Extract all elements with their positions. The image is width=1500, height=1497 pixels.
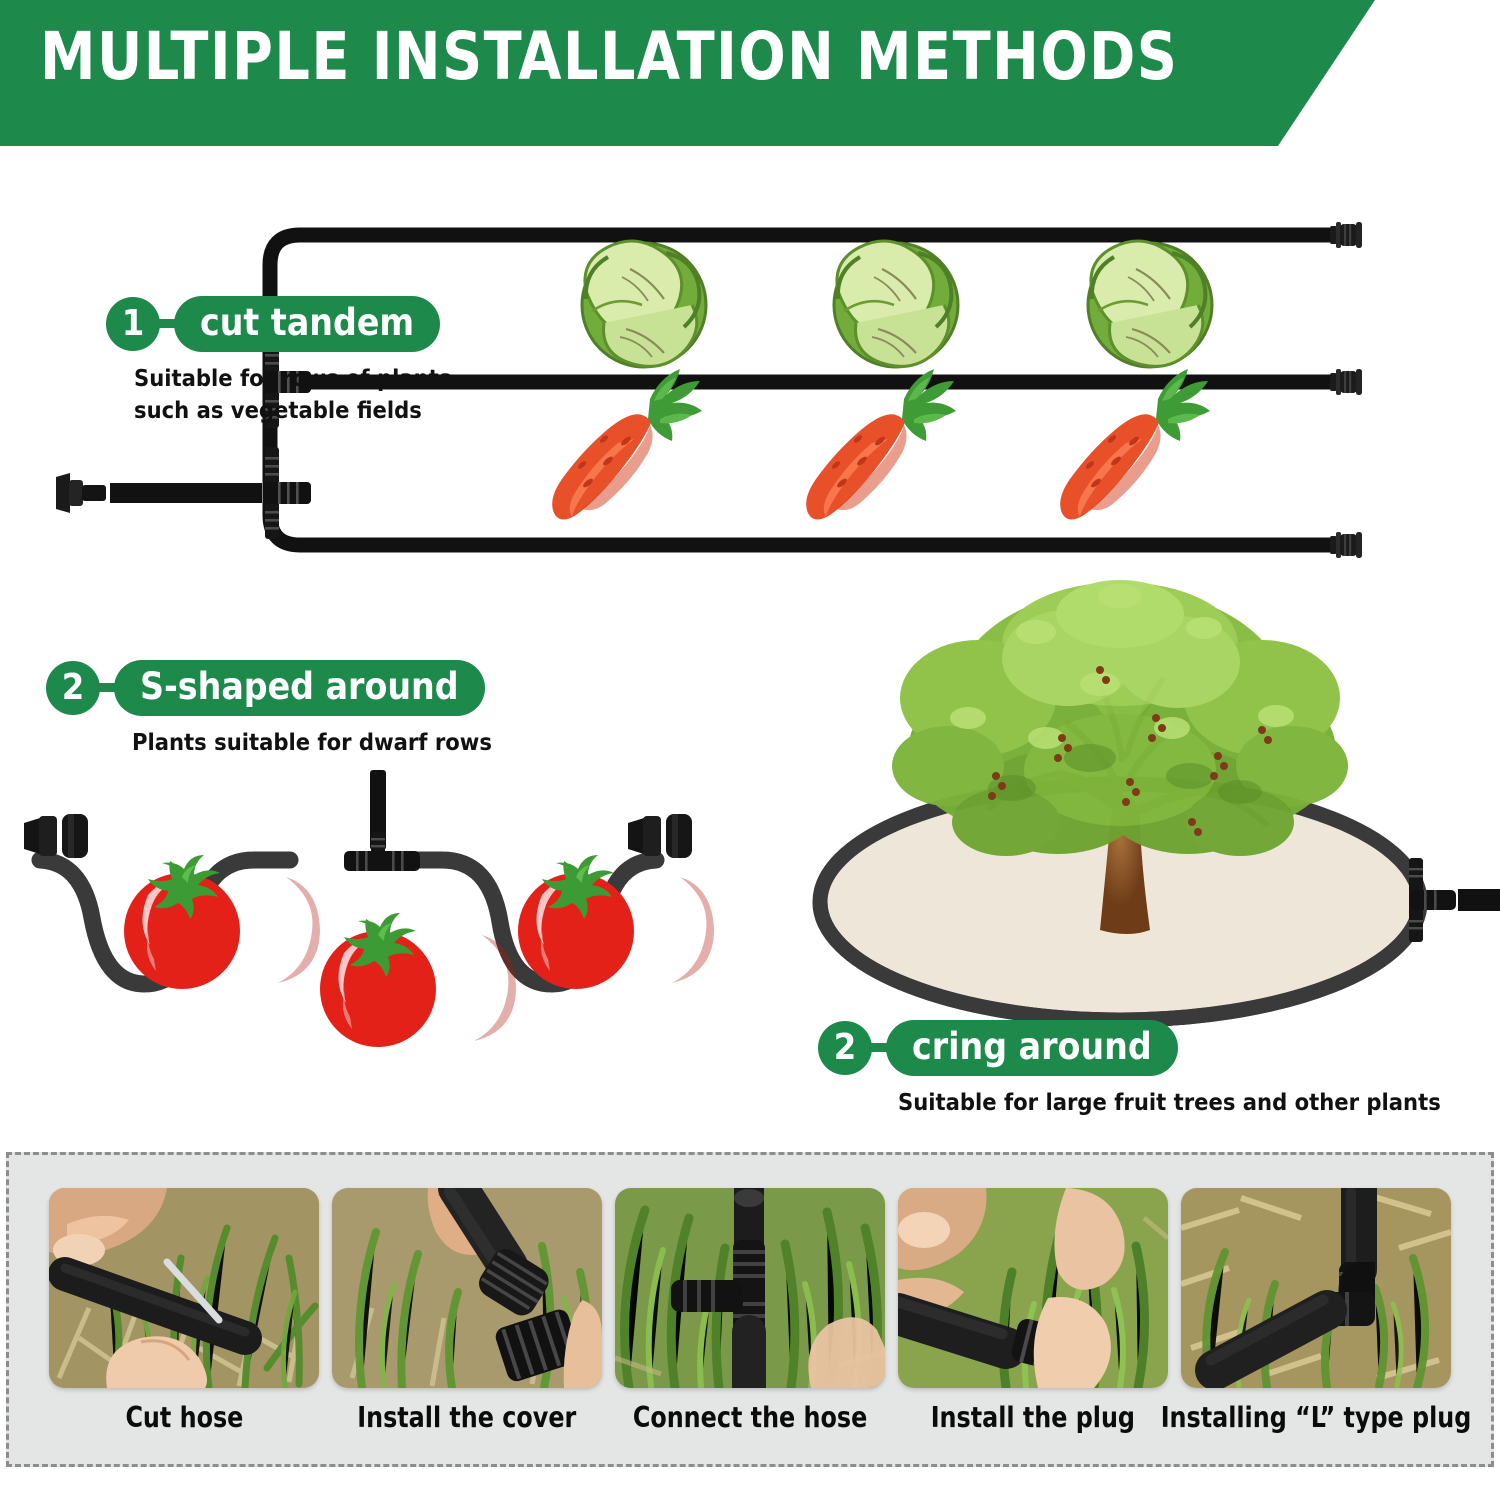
- method-2-diagram: [10, 770, 740, 1090]
- tee-connector-ring: [1409, 858, 1456, 942]
- photo-install-plug: [898, 1188, 1168, 1388]
- install-step-caption: Install the plug: [931, 1401, 1135, 1434]
- method-3-label: 2 cring around Suitable for large fruit …: [818, 1020, 1441, 1118]
- install-step-caption: Connect the hose: [633, 1401, 867, 1434]
- cabbage-plant: [834, 241, 958, 367]
- photo-connect-hose: [615, 1188, 885, 1388]
- install-step-item: Cut hose: [49, 1188, 319, 1434]
- carrot-plant: [552, 369, 702, 520]
- install-step-caption: Install the cover: [357, 1401, 576, 1434]
- method-3-subtitle: Suitable for large fruit trees and other…: [898, 1086, 1441, 1118]
- header-banner: MULTIPLE INSTALLATION METHODS: [0, 0, 1400, 146]
- method-3-diagram: [800, 570, 1500, 1030]
- method-2-title: S-shaped around: [114, 660, 485, 716]
- tee-connector-center: [344, 832, 420, 871]
- method-1-number: 1: [106, 297, 160, 351]
- photo-l-type-plug: [1181, 1188, 1451, 1388]
- carrot-plant: [806, 369, 956, 520]
- tee-connector-lower: [263, 447, 311, 539]
- install-step-item: Install the plug: [898, 1188, 1168, 1434]
- install-step-caption: Installing “L” type plug: [1161, 1401, 1472, 1434]
- end-fitting-left: [24, 814, 88, 858]
- page-title: MULTIPLE INSTALLATION METHODS: [40, 24, 1178, 90]
- carrot-plant: [1060, 369, 1210, 520]
- method-3-number: 2: [818, 1021, 872, 1075]
- method-1-title: cut tandem: [174, 296, 440, 352]
- inlet-barb-fitting: [56, 473, 106, 513]
- method-3-title: cring around: [886, 1020, 1178, 1076]
- install-step-item: Install the cover: [332, 1188, 602, 1434]
- install-steps-row: Cut hose: [9, 1155, 1491, 1497]
- install-step-item: Installing “L” type plug: [1181, 1188, 1451, 1434]
- method-1-label: 1 cut tandem Suitable for rows of plants…: [106, 296, 451, 427]
- photo-install-cover: [332, 1188, 602, 1388]
- install-step-caption: Cut hose: [125, 1401, 243, 1434]
- cabbage-plant: [1088, 241, 1212, 367]
- tomato-plant: [320, 913, 516, 1047]
- photo-cut-hose: [49, 1188, 319, 1388]
- method-2-number: 2: [46, 661, 100, 715]
- method-2-subtitle: Plants suitable for dwarf rows: [132, 726, 492, 758]
- install-step-item: Connect the hose: [615, 1188, 885, 1434]
- install-steps-panel: Cut hose: [6, 1152, 1494, 1467]
- cabbage-plant: [582, 241, 706, 367]
- method-1-subtitle: Suitable for rows of plants such as vege…: [134, 362, 451, 427]
- end-fitting-right: [628, 814, 692, 858]
- method-2-label: 2 S-shaped around Plants suitable for dw…: [46, 660, 492, 758]
